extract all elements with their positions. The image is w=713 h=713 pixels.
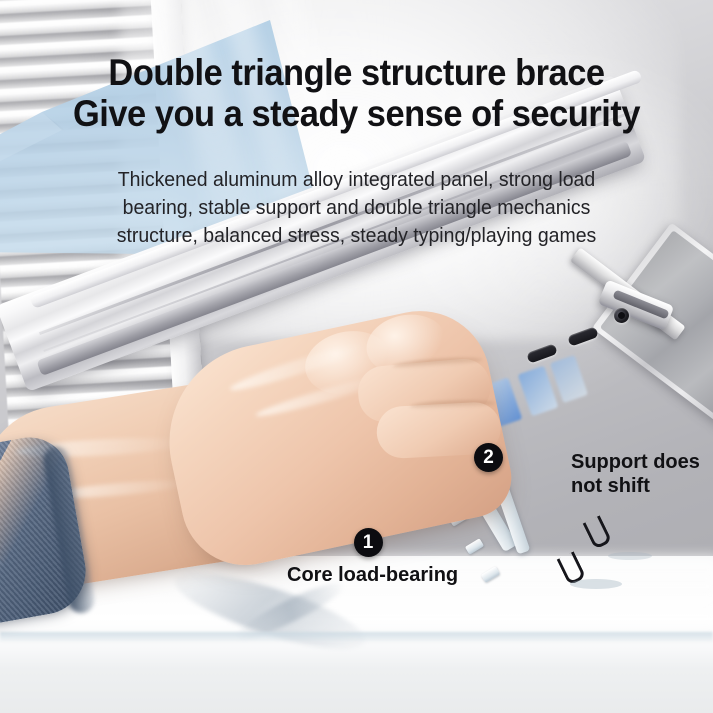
desk-front-edge <box>0 632 713 642</box>
subcopy: Thickened aluminum alloy integrated pane… <box>18 166 695 250</box>
product-marketing-image: Double triangle structure brace Give you… <box>0 0 713 713</box>
callout-2-label-line-1: Support does <box>571 450 700 474</box>
subcopy-line-1: Thickened aluminum alloy integrated pane… <box>18 166 695 194</box>
callout-1: 1 Core load-bearing <box>287 528 449 587</box>
page-title: Double triangle structure brace Give you… <box>25 52 688 134</box>
callout-2-badge: 2 <box>474 443 503 472</box>
callout-2-label-line-2: not shift <box>571 474 700 498</box>
stand-notch <box>465 538 484 554</box>
stand-foot <box>557 551 587 585</box>
callout-1-badge: 1 <box>354 528 383 557</box>
stand-notch <box>481 566 500 582</box>
subcopy-line-3: structure, balanced stress, steady typin… <box>18 222 695 250</box>
headline-line-1: Double triangle structure brace <box>25 52 688 93</box>
subcopy-line-2: bearing, stable support and double trian… <box>18 194 695 222</box>
callout-2-label: Support does not shift <box>571 450 700 498</box>
callout-1-label: Core load-bearing <box>287 563 449 587</box>
callout-2: 2 <box>474 443 503 472</box>
stand-foot <box>583 515 613 549</box>
headline-line-2: Give you a steady sense of security <box>25 93 688 134</box>
